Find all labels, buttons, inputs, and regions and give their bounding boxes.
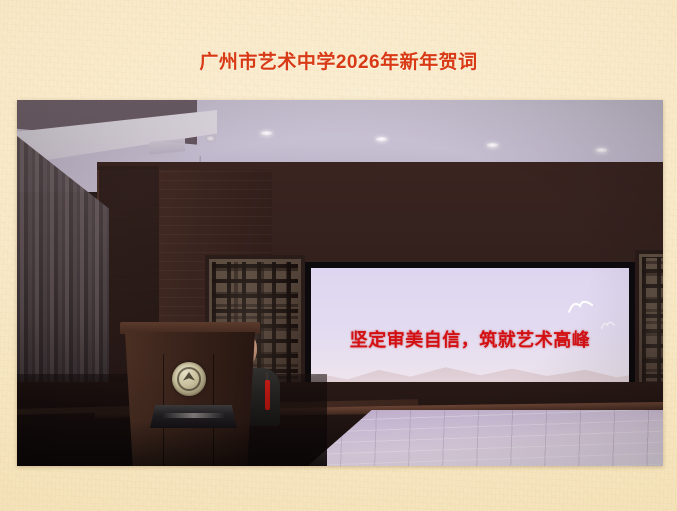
page-title: 广州市艺术中学2026年新年贺词 <box>0 47 677 74</box>
monitor-screen-glow <box>162 413 225 418</box>
event-photo: 坚定审美自信，筑就艺术高峰 <box>17 100 663 466</box>
ceiling-speaker-icon <box>205 135 216 142</box>
monitor-screen <box>150 405 237 428</box>
ceiling-downlight-icon <box>260 131 273 136</box>
podium-monitor <box>150 405 237 428</box>
ceiling-downlight-icon <box>595 148 608 153</box>
ceiling-downlight-icon <box>486 143 499 148</box>
microphone-icon <box>265 380 270 410</box>
podium <box>120 322 260 466</box>
school-emblem-icon <box>172 362 206 396</box>
podium-body <box>125 332 255 466</box>
ceiling-downlight-icon <box>375 137 388 142</box>
led-slogan-text: 坚定审美自信，筑就艺术高峰 <box>311 326 629 352</box>
